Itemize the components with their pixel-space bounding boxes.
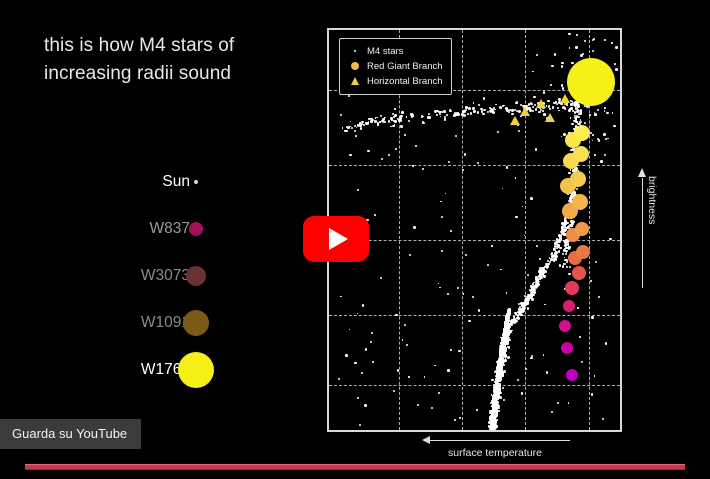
star-point	[463, 110, 466, 113]
star-point	[394, 120, 396, 122]
star-point	[576, 34, 578, 36]
star-point	[584, 122, 586, 124]
star-point	[604, 39, 606, 41]
star-point	[562, 106, 565, 109]
star-point	[354, 130, 356, 132]
star-point	[535, 148, 537, 150]
star-point	[440, 201, 442, 203]
star-point	[553, 258, 555, 260]
star-point	[476, 409, 478, 411]
star-point	[459, 417, 461, 419]
star-point	[613, 125, 615, 127]
star-point	[518, 130, 520, 132]
star-point	[615, 68, 618, 71]
star-point	[364, 404, 366, 406]
star-point	[492, 111, 495, 114]
star-point	[363, 124, 365, 126]
progress-bar-fill	[25, 464, 685, 470]
star-point	[492, 415, 494, 417]
star-point	[536, 284, 539, 287]
star-point	[556, 248, 558, 250]
star-point	[461, 113, 463, 115]
y-axis-label: brightness	[632, 168, 682, 288]
star-point	[356, 127, 358, 129]
star-point	[344, 130, 346, 132]
star-point	[348, 126, 350, 128]
star-point	[497, 131, 499, 133]
star-point	[406, 344, 408, 346]
star-point	[516, 101, 518, 103]
star-size-swatch	[183, 310, 209, 336]
star-point	[445, 193, 447, 195]
star-point	[579, 336, 581, 338]
star-point	[470, 112, 473, 115]
star-point	[415, 145, 417, 147]
star-point	[494, 109, 496, 111]
star-point	[492, 397, 495, 400]
star-point	[428, 113, 430, 115]
star-point	[497, 377, 500, 380]
star-point	[404, 324, 406, 326]
star-point	[350, 121, 352, 123]
star-point	[559, 241, 561, 243]
star-point	[345, 354, 347, 356]
star-point	[552, 106, 554, 108]
star-point	[571, 222, 573, 224]
watch-on-youtube-button[interactable]: Guarda su YouTube	[0, 419, 141, 449]
star-point	[577, 307, 579, 309]
star-point	[561, 84, 564, 87]
star-point	[349, 329, 351, 331]
star-point	[505, 107, 508, 110]
star-point	[357, 397, 359, 399]
star-point	[388, 120, 391, 123]
star-point	[506, 166, 509, 169]
star-point	[349, 154, 351, 156]
page-title: this is how M4 stars of increasing radii…	[44, 32, 294, 87]
star-point	[348, 95, 350, 97]
star-point	[572, 220, 574, 222]
star-point	[590, 280, 592, 282]
star-point	[491, 423, 493, 425]
star-point	[468, 320, 471, 323]
y-axis-label-text: brightness	[646, 176, 658, 224]
star-point	[399, 116, 402, 119]
star-point	[579, 112, 582, 115]
star-point	[478, 104, 480, 106]
star-point	[477, 111, 480, 114]
star-point	[532, 71, 534, 73]
legend-marker-icon	[346, 77, 364, 85]
star-point	[605, 342, 608, 345]
star-point	[511, 113, 513, 115]
star-point	[497, 410, 500, 413]
star-point	[417, 404, 419, 406]
star-point	[612, 112, 614, 114]
star-point	[502, 387, 504, 389]
legend-label: Red Giant Branch	[367, 61, 443, 72]
star-point	[598, 296, 600, 298]
star-point	[557, 402, 559, 404]
star-point	[424, 376, 426, 378]
star-point	[594, 375, 596, 377]
star-point	[434, 110, 437, 113]
star-point	[576, 188, 578, 190]
star-point	[592, 134, 594, 136]
star-point	[496, 425, 499, 428]
star-point	[569, 266, 571, 268]
star-point	[431, 407, 434, 410]
star-point	[506, 339, 508, 341]
star-point	[438, 283, 440, 285]
star-point	[559, 264, 561, 266]
star-point	[495, 383, 497, 385]
x-axis-arrow-icon	[420, 436, 570, 446]
star-point	[520, 309, 522, 311]
star-point	[360, 127, 362, 129]
star-point	[507, 356, 510, 359]
star-point	[591, 393, 593, 395]
star-point	[563, 233, 565, 235]
star-point	[495, 386, 498, 389]
star-point	[472, 296, 474, 298]
star-point	[562, 253, 564, 255]
hr-diagram: M4 starsRed Giant BranchHorizontal Branc…	[327, 28, 622, 432]
star-point	[375, 117, 377, 119]
star-point	[439, 113, 441, 115]
star-point	[517, 317, 520, 320]
star-point	[584, 40, 586, 42]
legend-marker-icon	[346, 62, 364, 70]
star-point	[602, 418, 604, 420]
star-point	[569, 108, 571, 110]
star-point	[539, 278, 541, 280]
star-point	[439, 287, 441, 289]
star-point	[532, 284, 534, 286]
star-point	[370, 120, 373, 123]
star-point	[524, 301, 526, 303]
plot-area: M4 starsRed Giant BranchHorizontal Branc…	[329, 30, 620, 430]
star-point	[568, 33, 570, 35]
star-point	[543, 354, 545, 356]
star-point	[478, 309, 481, 312]
star-point	[392, 125, 395, 128]
star-size-swatch	[189, 222, 203, 236]
star-point	[367, 150, 370, 153]
star-point	[441, 216, 443, 218]
star-point	[463, 293, 465, 295]
star-point	[357, 313, 359, 315]
star-point	[448, 161, 450, 163]
star-point	[374, 214, 376, 216]
star-point	[522, 206, 524, 208]
red-giant-point	[570, 171, 586, 187]
star-point	[592, 140, 594, 142]
star-point	[561, 65, 564, 68]
star-point	[525, 368, 527, 370]
star-row: W1763	[78, 346, 248, 393]
star-point	[454, 112, 456, 114]
star-point	[547, 100, 550, 103]
star-point	[572, 123, 574, 125]
star-point	[503, 399, 505, 401]
star-point	[520, 314, 523, 317]
star-point	[473, 110, 476, 113]
star-point	[573, 120, 575, 122]
star-point	[603, 133, 606, 136]
star-point	[496, 412, 498, 414]
star-point	[444, 118, 446, 120]
chart-legend: M4 starsRed Giant BranchHorizontal Branc…	[339, 38, 452, 95]
star-point	[376, 117, 378, 119]
star-name-label: Sun	[162, 173, 190, 191]
star-point	[504, 335, 506, 337]
star-point	[495, 421, 498, 424]
star-point	[380, 277, 382, 279]
star-point	[401, 111, 403, 113]
star-point	[422, 122, 425, 125]
star-point	[614, 63, 616, 65]
red-giant-point	[572, 266, 586, 280]
star-point	[446, 114, 448, 116]
star-point	[598, 139, 600, 141]
star-point	[505, 316, 507, 318]
star-point	[554, 242, 557, 245]
star-point	[384, 118, 386, 120]
star-point	[472, 107, 475, 110]
star-point	[492, 417, 495, 420]
star-point	[604, 154, 606, 156]
star-point	[381, 158, 383, 160]
star-point	[351, 127, 353, 129]
star-point	[606, 112, 609, 115]
star-point	[447, 293, 450, 296]
star-point	[533, 96, 536, 99]
red-giant-point	[566, 369, 578, 381]
star-point	[550, 84, 552, 86]
red-giant-point	[567, 58, 615, 106]
star-point	[567, 243, 569, 245]
star-point	[338, 378, 340, 380]
red-giant-point	[563, 300, 575, 312]
red-giant-point	[573, 146, 589, 162]
star-point	[497, 373, 499, 375]
star-point	[409, 254, 411, 256]
star-point	[569, 197, 572, 200]
star-point	[539, 271, 542, 274]
star-point	[604, 107, 606, 109]
star-point	[561, 136, 563, 138]
red-giant-point	[574, 125, 590, 141]
star-point	[444, 111, 446, 113]
star-point	[388, 154, 390, 156]
star-point	[582, 53, 584, 55]
star-point	[538, 111, 540, 113]
red-giant-point	[576, 245, 590, 259]
play-triangle-icon	[329, 228, 348, 250]
star-point	[438, 392, 440, 394]
star-point	[530, 102, 532, 104]
star-point	[552, 255, 555, 258]
star-point	[565, 253, 567, 255]
star-point	[361, 372, 363, 374]
star-point	[524, 303, 526, 305]
star-point	[464, 153, 466, 155]
red-giant-point	[572, 194, 588, 210]
star-point	[483, 97, 485, 99]
star-row: W1091	[78, 299, 248, 346]
star-point	[402, 339, 404, 341]
star-point	[604, 110, 606, 112]
star-point	[362, 304, 365, 307]
star-point	[441, 250, 443, 252]
star-point	[506, 320, 509, 323]
star-point	[574, 115, 576, 117]
star-point	[570, 103, 573, 106]
y-axis-arrow-icon	[642, 178, 643, 288]
star-point	[450, 349, 452, 351]
star-point	[502, 188, 504, 190]
star-point	[526, 301, 528, 303]
star-point	[468, 107, 471, 110]
star-point	[440, 116, 442, 118]
star-point	[563, 228, 565, 230]
red-giant-point	[561, 342, 573, 354]
legend-label: M4 stars	[367, 46, 403, 57]
star-point	[499, 392, 502, 395]
star-point	[527, 274, 529, 276]
star-point	[569, 47, 571, 49]
star-point	[494, 393, 497, 396]
star-point	[487, 264, 490, 267]
star-name-label: W3073	[141, 267, 190, 285]
star-point	[557, 107, 559, 109]
star-point	[357, 189, 359, 191]
star-point	[554, 53, 557, 56]
star-point	[355, 135, 357, 137]
star-point	[543, 91, 546, 94]
star-point	[500, 107, 502, 109]
red-giant-point	[559, 320, 571, 332]
star-point	[473, 102, 475, 104]
star-point	[434, 365, 436, 367]
star-point	[458, 350, 460, 352]
star-point	[589, 114, 591, 116]
star-point	[453, 114, 455, 116]
star-point	[542, 110, 544, 112]
star-point	[542, 271, 545, 274]
star-point	[467, 113, 469, 115]
star-point	[594, 154, 596, 156]
star-point	[530, 357, 533, 360]
horizontal-branch-point	[520, 107, 530, 116]
star-point	[535, 108, 537, 110]
star-point	[506, 292, 508, 294]
legend-label: Horizontal Branch	[367, 76, 443, 87]
star-point	[509, 320, 511, 322]
star-point	[522, 311, 524, 313]
star-point	[595, 261, 597, 263]
star-point	[558, 250, 560, 252]
star-point	[562, 265, 565, 268]
star-point	[568, 273, 571, 276]
gridline-horizontal	[329, 315, 620, 316]
video-player: this is how M4 stars of increasing radii…	[0, 0, 710, 479]
star-point	[477, 162, 479, 164]
star-point	[462, 169, 464, 171]
star-point	[505, 328, 508, 331]
star-point	[501, 358, 503, 360]
star-point	[564, 263, 566, 265]
star-point	[500, 378, 502, 380]
star-point	[395, 148, 397, 150]
star-point	[546, 371, 548, 373]
star-point	[455, 135, 457, 137]
star-point	[513, 316, 515, 318]
star-point	[615, 46, 618, 49]
star-point	[370, 341, 372, 343]
star-point	[413, 226, 415, 228]
play-button[interactable]	[303, 216, 369, 262]
star-point	[555, 258, 558, 261]
star-point	[502, 105, 504, 107]
star-point	[551, 65, 554, 68]
star-point	[570, 117, 572, 119]
star-point	[544, 304, 546, 306]
star-point	[481, 110, 484, 113]
star-point	[515, 177, 517, 179]
star-size-swatch	[186, 266, 206, 286]
star-point	[515, 216, 518, 219]
star-point	[594, 113, 597, 116]
star-point	[561, 62, 563, 64]
star-point	[393, 116, 395, 118]
star-point	[527, 307, 530, 310]
star-point	[412, 165, 414, 167]
progress-bar[interactable]	[25, 464, 685, 470]
star-point	[491, 394, 493, 396]
star-name-label: W837	[150, 220, 191, 238]
star-point	[551, 411, 553, 413]
star-point	[500, 354, 502, 356]
star-point	[491, 245, 493, 247]
star-point	[592, 39, 595, 42]
star-point	[465, 254, 467, 256]
star-point	[483, 109, 486, 112]
star-point	[500, 269, 502, 271]
star-point	[342, 127, 344, 129]
star-point	[517, 379, 519, 381]
star-point	[391, 119, 393, 121]
star-point	[365, 348, 368, 351]
star-point	[450, 230, 452, 232]
star-point	[457, 287, 459, 289]
star-point	[447, 369, 450, 372]
star-point	[404, 134, 406, 136]
star-point	[532, 106, 534, 108]
star-point	[597, 109, 599, 111]
horizontal-branch-point	[510, 116, 520, 125]
star-point	[359, 424, 361, 426]
star-point	[521, 392, 523, 394]
horizontal-branch-point	[560, 94, 570, 103]
star-row: Sun	[78, 158, 248, 205]
star-point	[566, 266, 568, 268]
star-point	[531, 298, 533, 300]
star-point	[568, 402, 570, 404]
star-point	[397, 369, 399, 371]
star-point	[408, 376, 410, 378]
